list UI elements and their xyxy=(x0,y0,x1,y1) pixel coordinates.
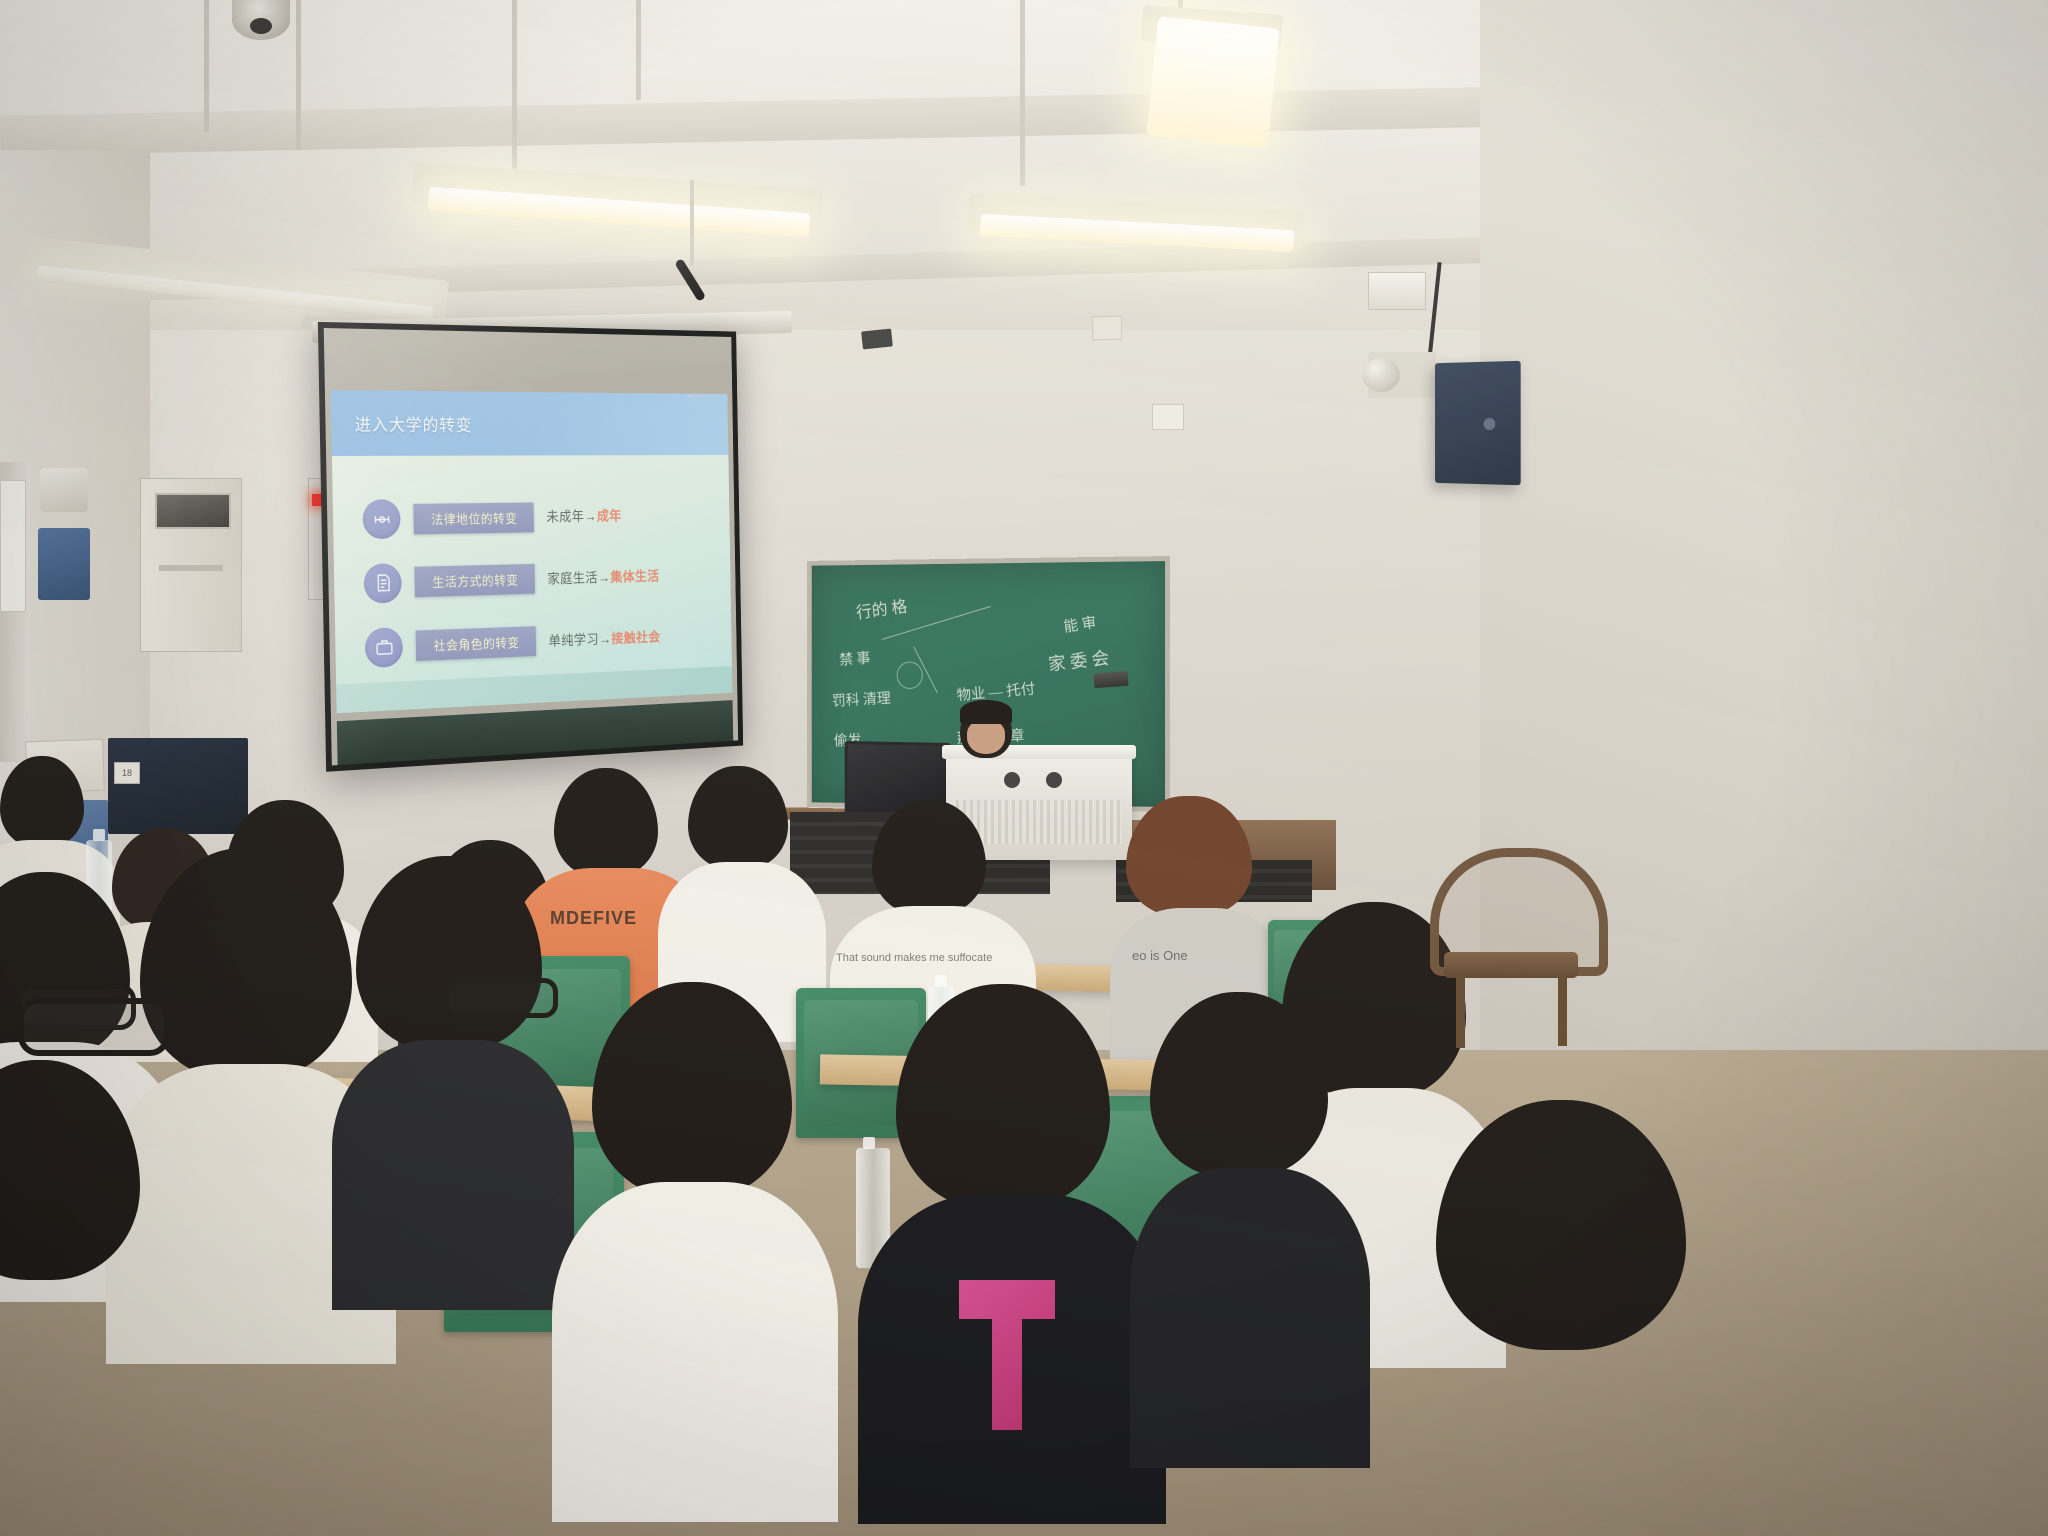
screen-surface: 进入大学的转变 法律地位的转变 未成年→成年 xyxy=(324,328,738,765)
document-note-icon xyxy=(364,563,402,604)
university-shield-logo xyxy=(684,390,709,399)
shirt-graphic-text: That sound makes me suffocate xyxy=(836,952,992,964)
shirt-graphic-text: eo is One xyxy=(1132,948,1188,963)
light-rod xyxy=(1020,0,1025,186)
bag-briefcase-icon xyxy=(365,627,403,668)
slide-row: 生活方式的转变 家庭生活→集体生活 xyxy=(364,557,660,604)
podium-vent xyxy=(1046,772,1062,788)
rattan-chair-leg xyxy=(1558,976,1567,1046)
phone-locker-board[interactable]: 010203040506070809101112131415161718 xyxy=(108,738,248,834)
presentation-slide: 进入大学的转变 法律地位的转变 未成年→成年 xyxy=(331,390,733,713)
security-camera-icon xyxy=(861,328,893,349)
student-body xyxy=(858,1194,1166,1524)
dome-camera-icon xyxy=(250,18,272,34)
light-rod xyxy=(512,0,517,176)
slide-row: 社会角色的转变 单纯学习→接触社会 xyxy=(365,618,661,668)
slide-row-chip: 法律地位的转变 xyxy=(413,502,534,534)
student-head xyxy=(554,768,658,878)
light-rod xyxy=(204,0,209,132)
shirt-graphic xyxy=(932,1280,1082,1430)
chalk-circle xyxy=(897,662,923,689)
slide-row-chip: 社会角色的转变 xyxy=(416,626,537,661)
cabinet-handle xyxy=(159,565,223,571)
wall-access-panel xyxy=(1368,272,1426,310)
electrical-box xyxy=(38,528,90,600)
light-rod xyxy=(296,0,301,150)
locker-cell[interactable]: 18 xyxy=(114,762,140,784)
rattan-chair-seat xyxy=(1444,952,1578,978)
wall-cabinet xyxy=(140,478,242,652)
wall-panel xyxy=(0,480,26,612)
projection-screen: 进入大学的转变 法律地位的转变 未成年→成年 xyxy=(318,322,743,772)
lecture-hall-photo: 010203040506070809101112131415161718 进入大… xyxy=(0,0,2048,1536)
slide-row-value: 未成年→成年 xyxy=(546,506,622,526)
presenter-face xyxy=(967,720,1005,754)
slide-row-value: 单纯学习→接触社会 xyxy=(548,627,660,650)
wall-box xyxy=(40,468,88,512)
eyeglasses xyxy=(18,998,170,1056)
slide-row: 法律地位的转变 未成年→成年 xyxy=(363,497,622,540)
microphone-rod xyxy=(690,180,694,266)
slide-row-value: 家庭生活→集体生活 xyxy=(547,566,659,588)
student-head xyxy=(688,766,788,870)
slide-title-bar: 进入大学的转变 xyxy=(331,390,729,456)
rattan-chair[interactable] xyxy=(1430,848,1590,1048)
podium-vent xyxy=(1004,772,1020,788)
presenter xyxy=(950,700,1024,770)
shirt-graphic-text: MDEFIVE xyxy=(550,908,637,929)
rattan-chair-leg xyxy=(1456,976,1465,1048)
student-head xyxy=(1126,796,1252,916)
cabinet-window xyxy=(155,493,231,529)
eyeglasses xyxy=(444,978,558,1018)
podium-grille xyxy=(956,800,1122,844)
chalk-text: 行的 格 xyxy=(855,592,909,623)
presenter-hair xyxy=(960,700,1012,724)
student-body xyxy=(332,1040,574,1310)
slide-row-chip: 生活方式的转变 xyxy=(415,564,536,597)
light-rod xyxy=(636,0,641,100)
page-title: 进入大学的转变 xyxy=(355,411,473,436)
chalk-text: 家 委 会 xyxy=(1047,644,1110,676)
fluorescent-tube xyxy=(1146,16,1280,148)
wall-socket[interactable] xyxy=(1092,316,1122,341)
wall-speaker-icon xyxy=(1435,361,1521,485)
chalk-text: 能 审 xyxy=(1062,611,1097,636)
dome-camera-icon xyxy=(1362,358,1400,392)
student-body xyxy=(552,1182,838,1522)
student-body xyxy=(1130,1168,1370,1468)
blackboard-eraser[interactable] xyxy=(1094,671,1129,688)
handshake-scales-icon xyxy=(363,499,401,539)
chalk-text: 禁 事 xyxy=(839,647,871,670)
wall-socket[interactable] xyxy=(1152,404,1184,430)
student-head xyxy=(0,756,84,848)
chalk-text: 罚科 清理 xyxy=(831,687,891,710)
